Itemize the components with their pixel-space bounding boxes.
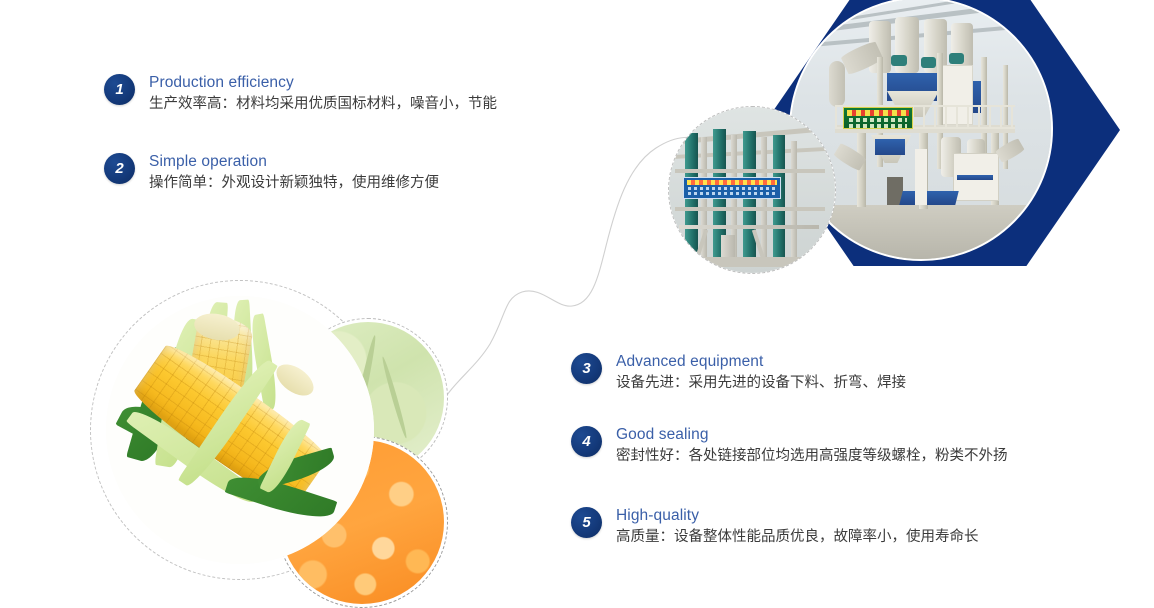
feature-item-1[interactable]: 1 Production efficiency 生产效率高：材料均采用优质国标材… [104,74,497,114]
banner-sign [843,107,913,129]
feature-title-en: High-quality [616,507,979,524]
feature-item-3[interactable]: 3 Advanced equipment 设备先进：采用先进的设备下料、折弯、焊… [571,353,906,393]
feature-text: Production efficiency 生产效率高：材料均采用优质国标材料，… [149,74,497,114]
feature-number-badge: 5 [571,507,602,538]
feature-text: Simple operation 操作简单：外观设计新颖独特，使用维修方便 [149,153,439,193]
feature-title-cn: 设备先进：采用先进的设备下料、折弯、焊接 [616,373,906,393]
teal-milling-equipment-photo [668,106,836,274]
feature-title-cn: 操作简单：外观设计新颖独特，使用维修方便 [149,173,439,193]
feature-title-cn: 密封性好：各处链接部位均选用高强度等级螺栓，粉类不外扬 [616,446,1008,466]
banner-sign-small [683,177,781,199]
feature-title-en: Good sealing [616,426,1008,443]
feature-number-badge: 4 [571,426,602,457]
feature-text: Good sealing 密封性好：各处链接部位均选用高强度等级螺栓，粉类不外扬 [616,426,1008,466]
feature-text: High-quality 高质量：设备整体性能品质优良，故障率小，使用寿命长 [616,507,979,547]
infographic-canvas: 1 Production efficiency 生产效率高：材料均采用优质国标材… [0,0,1154,591]
feature-number-badge: 1 [104,74,135,105]
feature-title-cn: 生产效率高：材料均采用优质国标材料，噪音小，节能 [149,94,497,114]
feature-title-en: Advanced equipment [616,353,906,370]
feature-item-4[interactable]: 4 Good sealing 密封性好：各处链接部位均选用高强度等级螺栓，粉类不… [571,426,1008,466]
feature-text: Advanced equipment 设备先进：采用先进的设备下料、折弯、焊接 [616,353,906,393]
feature-number-badge: 2 [104,153,135,184]
feature-item-2[interactable]: 2 Simple operation 操作简单：外观设计新颖独特，使用维修方便 [104,153,439,193]
fresh-corn-cob-photo [106,296,374,564]
machine-image-group [660,0,1154,280]
feature-title-en: Simple operation [149,153,439,170]
corn-image-group [88,278,488,591]
feature-title-cn: 高质量：设备整体性能品质优良，故障率小，使用寿命长 [616,527,979,547]
feature-title-en: Production efficiency [149,74,497,91]
feature-item-5[interactable]: 5 High-quality 高质量：设备整体性能品质优良，故障率小，使用寿命长 [571,507,979,547]
feature-number-badge: 3 [571,353,602,384]
